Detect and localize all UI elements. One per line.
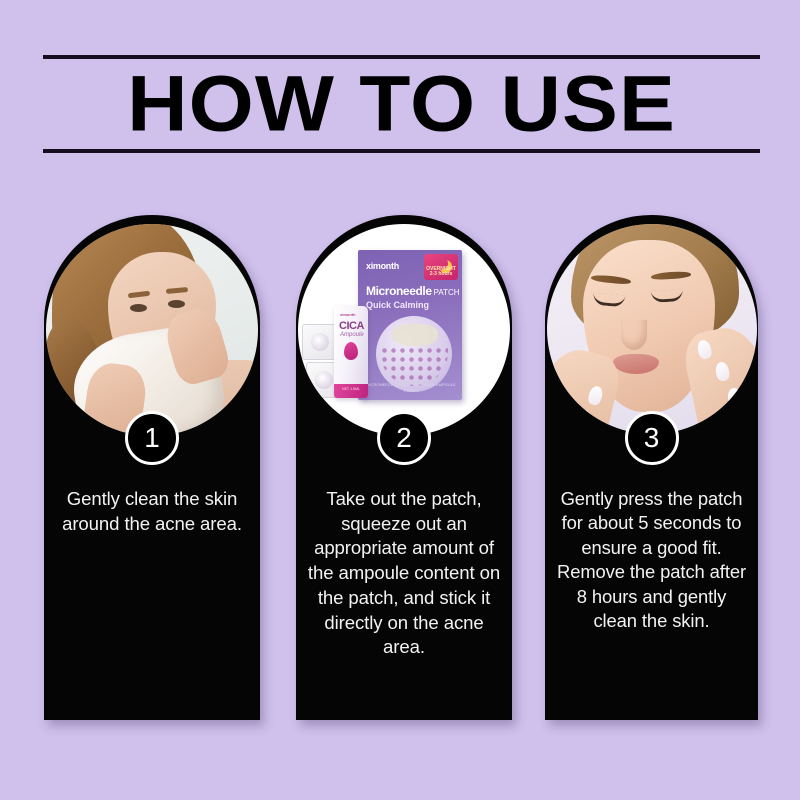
eye-right [168, 300, 185, 308]
patch-sachet-1 [302, 324, 338, 360]
droplet-icon [344, 342, 358, 360]
eye-left [130, 304, 147, 312]
step-1-description: Gently clean the skin around the acne ar… [52, 487, 252, 536]
step-number-badge-3: 3 [625, 411, 679, 465]
product-box: ximonth OVERNIGHT 2-3 hours MicroneedleP… [358, 250, 462, 400]
product-fine-print: MICRONEEDLE MICROPATCH ACNE AMPOULE 1.5M… [366, 382, 456, 394]
product-name-label: MicroneedlePATCH [366, 284, 460, 298]
overnight-badge-text: OVERNIGHT 2-3 hours [424, 267, 458, 279]
tube-brand-label: ximonth [340, 312, 356, 317]
product-subtitle-label: Quick Calming [366, 300, 429, 310]
product-name-suffix: PATCH [434, 288, 460, 297]
steps-container: 1 Gently clean the skin around the acne … [0, 215, 800, 730]
overnight-badge: OVERNIGHT 2-3 hours [424, 254, 458, 280]
tube-cap-text: NET 1.5ML [334, 387, 368, 391]
page-title: HOW TO USE [21, 68, 781, 141]
step-2-description: Take out the patch, squeeze out an appro… [304, 487, 504, 660]
cloud-graphic [392, 324, 438, 346]
product-brand-label: ximonth [366, 261, 399, 271]
title-rule-bottom [43, 149, 760, 153]
product-name-main: Microneedle [366, 284, 432, 298]
step-3-description: Gently press the patch for about 5 secon… [553, 487, 750, 634]
step-number-badge-1: 1 [125, 411, 179, 465]
step-2-photo: ximonth OVERNIGHT 2-3 hours MicroneedleP… [298, 224, 510, 436]
ampoule-tube: ximonth CICA Ampoule NET 1.5ML [334, 306, 368, 398]
nose-shape [621, 320, 647, 350]
step-number-badge-2: 2 [377, 411, 431, 465]
step-card-1: 1 Gently clean the skin around the acne … [44, 215, 260, 720]
tube-cap: NET 1.5ML [334, 384, 368, 398]
tube-name-label: CICA [339, 320, 364, 332]
page-header: HOW TO USE [43, 55, 760, 153]
step-1-photo [46, 224, 258, 436]
step-card-3: 3 Gently press the patch for about 5 sec… [545, 215, 758, 720]
step-card-2: ximonth OVERNIGHT 2-3 hours MicroneedleP… [296, 215, 512, 720]
tube-subtitle-label: Ampoule [340, 332, 364, 338]
step-3-photo [547, 224, 757, 434]
